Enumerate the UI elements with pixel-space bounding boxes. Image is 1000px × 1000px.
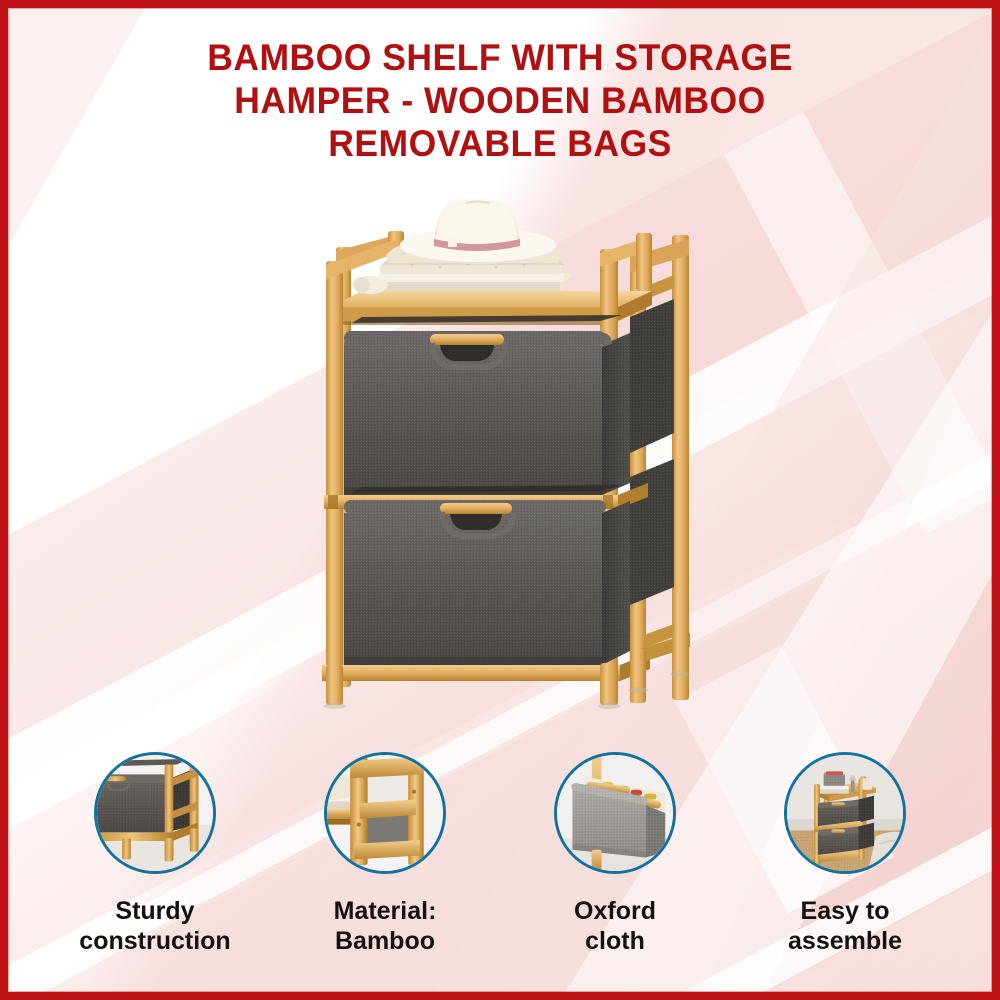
feature-item-oxford-cloth: Oxford cloth: [500, 752, 730, 982]
feature-item-material-bamboo: Material: Bamboo: [270, 752, 500, 982]
feature-label: Sturdy construction: [79, 896, 230, 956]
feature-item-sturdy-construction: Sturdy construction: [40, 752, 270, 982]
hero-product-image: [300, 195, 720, 715]
feature-label: Easy to assemble: [788, 896, 902, 956]
feature-label: Oxford cloth: [574, 896, 656, 956]
title-line-2: HAMPER - WOODEN BAMBOO: [20, 79, 980, 122]
feature-highlights-row: Sturdy construction: [40, 752, 960, 982]
assembled-shelf-in-room-icon: [784, 752, 906, 874]
product-title: BAMBOO SHELF WITH STORAGE HAMPER - WOODE…: [0, 36, 1000, 165]
title-line-3: REMOVABLE BAGS: [20, 122, 980, 165]
product-marketing-poster: BAMBOO SHELF WITH STORAGE HAMPER - WOODE…: [0, 0, 1000, 1000]
sturdy-frame-closeup-icon: [94, 752, 216, 874]
bamboo-frame-closeup-icon: [324, 752, 446, 874]
feature-label: Material: Bamboo: [334, 896, 437, 956]
title-line-1: BAMBOO SHELF WITH STORAGE: [20, 36, 980, 79]
feature-item-easy-to-assemble: Easy to assemble: [730, 752, 960, 982]
oxford-cloth-hamper-icon: [554, 752, 676, 874]
